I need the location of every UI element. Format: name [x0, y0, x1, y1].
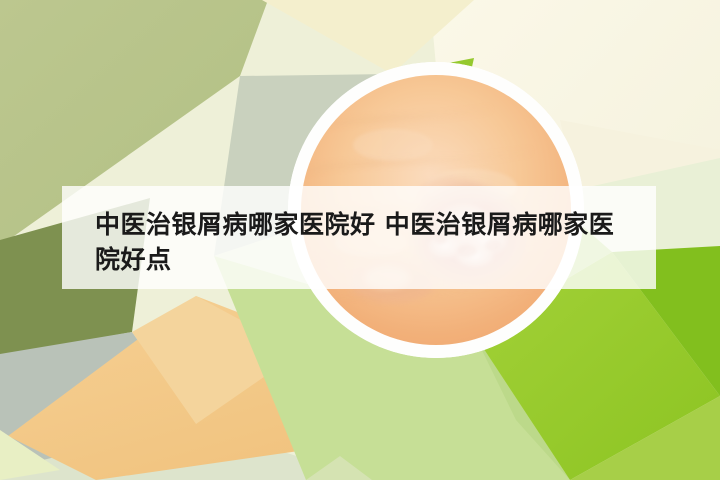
image-canvas: 中医治银屑病哪家医院好 中医治银屑病哪家医院好点 — [0, 0, 720, 480]
headline-text: 中医治银屑病哪家医院好 中医治银屑病哪家医院好点 — [95, 207, 626, 277]
headline-banner: 中医治银屑病哪家医院好 中医治银屑病哪家医院好点 — [62, 186, 656, 289]
